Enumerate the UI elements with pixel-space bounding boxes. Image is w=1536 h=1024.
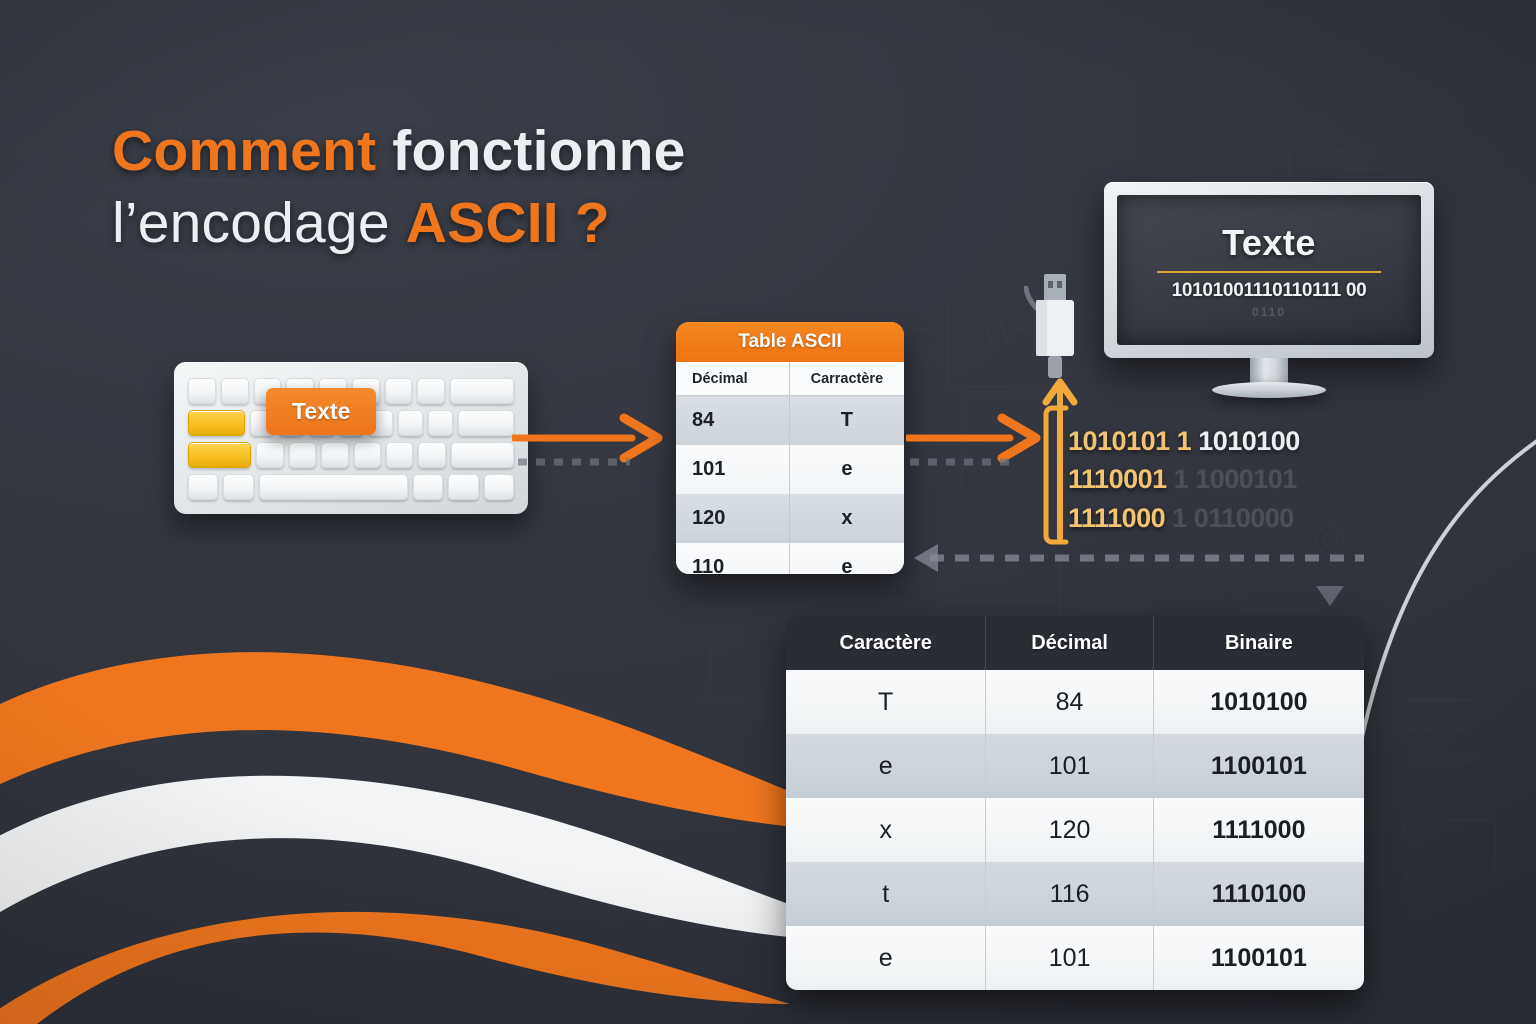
ascii-cell-decimal: 120 — [676, 494, 789, 543]
monitor-screen-divider — [1157, 271, 1382, 273]
keyboard-key — [398, 410, 423, 436]
title-word-comment: Comment — [112, 119, 376, 183]
ascii-card-table: Décimal Carractère 84 T 101 e 120 x — [676, 362, 904, 574]
keyboard-key — [458, 410, 515, 436]
table-row: 84 T — [676, 396, 904, 446]
title-word-fonctionne: fonctionne — [392, 119, 685, 183]
binary-segment-hot: 1010101 — [1068, 426, 1170, 456]
cell-binary: 1100101 — [1153, 926, 1364, 990]
binary-segment-mid: 1 — [1177, 426, 1192, 456]
binary-line: 1010101 1 1010100 — [1068, 422, 1468, 460]
keyboard-spacebar — [259, 474, 408, 500]
monitor-screen-title: Texte — [1222, 222, 1316, 264]
ascii-cell-decimal: 84 — [676, 396, 789, 446]
keyboard-key — [451, 442, 514, 468]
cell-binary: 1111000 — [1153, 798, 1364, 862]
table-row: e 101 1100101 — [786, 926, 1364, 990]
ascii-cell-character: e — [789, 445, 904, 494]
table-row: 101 e — [676, 445, 904, 494]
keyboard-key — [450, 378, 514, 404]
cell-character: T — [786, 670, 986, 734]
keyboard-row — [188, 474, 514, 500]
keyboard-key — [448, 474, 478, 500]
cell-decimal: 101 — [986, 926, 1153, 990]
keyboard-key — [413, 474, 443, 500]
main-table-header-row: Caractère Décimal Binaire — [786, 616, 1364, 670]
main-col-decimal: Décimal — [986, 616, 1153, 670]
monitor-base — [1212, 382, 1326, 398]
cell-character: e — [786, 926, 986, 990]
page-title: Comment fonctionne l’encodage ASCII ? — [112, 122, 872, 254]
keyboard-key-highlight — [188, 442, 251, 468]
keyboard-key — [354, 442, 381, 468]
cell-character: e — [786, 734, 986, 798]
keyboard-key — [221, 378, 249, 404]
monitor-illustration: Texte 10101001110110111 00 0110 — [1104, 182, 1434, 432]
ascii-cell-character: T — [789, 396, 904, 446]
ascii-encoding-table: Caractère Décimal Binaire T 84 1010100 e… — [786, 616, 1364, 990]
keyboard-key — [289, 442, 316, 468]
title-word-encodage: l’encodage — [112, 191, 390, 255]
keyboard-key — [417, 378, 445, 404]
table-row: e 101 1100101 — [786, 734, 1364, 798]
table-row: 110 e — [676, 543, 904, 574]
table-row: T 84 1010100 — [786, 670, 1364, 734]
cell-decimal: 84 — [986, 670, 1153, 734]
ascii-cell-character: e — [789, 543, 904, 574]
keyboard-key — [385, 378, 413, 404]
title-word-ascii: ASCII ? — [406, 191, 610, 255]
monitor-binary-text: 10101001110110111 00 — [1172, 280, 1367, 302]
table-row: t 116 1110100 — [786, 862, 1364, 926]
ascii-card-header: Table ASCII — [676, 322, 904, 362]
infographic-canvas: Comment fonctionne l’encodage ASCII ? — [0, 0, 1536, 1024]
ascii-cell-character: x — [789, 494, 904, 543]
keyboard-key-highlight — [188, 410, 245, 436]
ascii-col-decimal: Décimal — [676, 362, 789, 396]
keyboard-key — [428, 410, 453, 436]
main-col-caractere: Caractère — [786, 616, 986, 670]
dashed-arrow-left-icon — [912, 528, 1382, 608]
cell-decimal: 101 — [986, 734, 1153, 798]
cell-decimal: 116 — [986, 862, 1153, 926]
binary-stream: 1010101 1 1010100 1110001 1 1000101 1111… — [1068, 422, 1468, 537]
keyboard-key — [418, 442, 445, 468]
monitor-binary-faint: 0110 — [1252, 305, 1286, 319]
ascii-card-header-row: Décimal Carractère — [676, 362, 904, 396]
keyboard-key — [256, 442, 283, 468]
cell-binary: 1110100 — [1153, 862, 1364, 926]
keyboard-row — [188, 442, 514, 468]
monitor-screen: Texte 10101001110110111 00 0110 — [1117, 195, 1421, 345]
monitor-bezel: Texte 10101001110110111 00 0110 — [1104, 182, 1434, 358]
binary-segment-white: 1010100 — [1198, 426, 1300, 456]
table-row: x 120 1111000 — [786, 798, 1364, 862]
keyboard-illustration: Texte — [174, 362, 528, 514]
keyboard-key — [321, 442, 348, 468]
main-col-binaire: Binaire — [1153, 616, 1364, 670]
keyboard-key — [484, 474, 514, 500]
ascii-cell-decimal: 110 — [676, 543, 789, 574]
cell-character: t — [786, 862, 986, 926]
cell-character: x — [786, 798, 986, 862]
cell-binary: 1100101 — [1153, 734, 1364, 798]
keyboard-key — [188, 378, 216, 404]
binary-segment-dim: 1 1000101 — [1174, 464, 1297, 494]
ascii-table-card: Table ASCII Décimal Carractère 84 T 101 … — [676, 322, 904, 574]
arrow-right-icon — [512, 412, 672, 476]
cell-binary: 1010100 — [1153, 670, 1364, 734]
keyboard-key — [223, 474, 253, 500]
cell-decimal: 120 — [986, 798, 1153, 862]
arrow-right-icon — [906, 412, 1050, 476]
keyboard-key — [386, 442, 413, 468]
ascii-col-character: Carractère — [789, 362, 904, 396]
keyboard-key — [188, 474, 218, 500]
ascii-cell-decimal: 101 — [676, 445, 789, 494]
keyboard-texte-badge: Texte — [266, 388, 376, 435]
binary-line: 1110001 1 1000101 — [1068, 460, 1468, 498]
binary-segment-hot: 1110001 — [1068, 464, 1167, 494]
table-row: 120 x — [676, 494, 904, 543]
main-table: Caractère Décimal Binaire T 84 1010100 e… — [786, 616, 1364, 990]
